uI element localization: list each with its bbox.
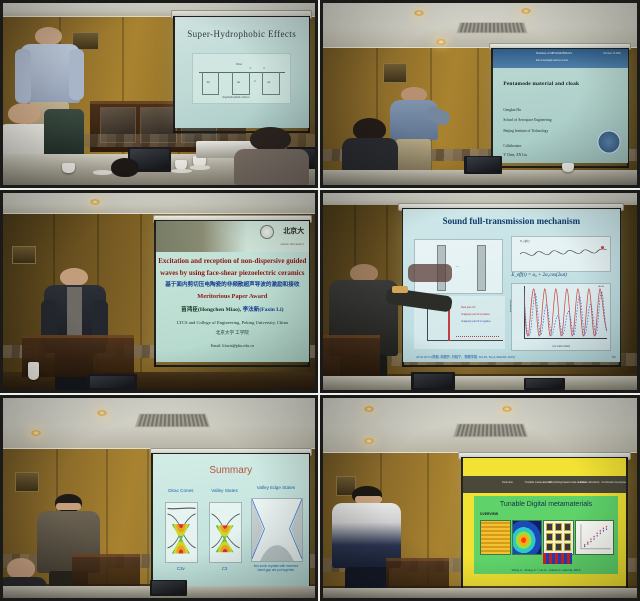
wall-plaque bbox=[15, 472, 39, 492]
nav-item-future: Future directions bbox=[580, 481, 599, 484]
slide-sound-transmission: Sound full-transmission mechanism ··· E_… bbox=[403, 209, 620, 363]
university-name-en: PEKING UNIVERSITY bbox=[280, 243, 304, 246]
column-caption-c3v: C3v bbox=[165, 566, 196, 571]
column-caption-edge: two sonic crystals with inversed band ga… bbox=[251, 564, 301, 573]
slide-author: Gengkai Hu bbox=[503, 108, 520, 112]
slide-affiliation-1: School of Aerospace Engineering bbox=[503, 118, 551, 122]
plot-xlabel: t (in units of Δt/c) bbox=[512, 345, 610, 348]
coffee-cup bbox=[62, 163, 74, 173]
photo-bottom-left: Summary Dirac Cones Valley States Valley… bbox=[3, 398, 315, 598]
hydro-diagram: Water Air Air Air d w h Superhydrophobic… bbox=[192, 53, 291, 104]
label-dim-h: h bbox=[254, 80, 255, 83]
laptop bbox=[464, 156, 502, 174]
slide-header-bar: Workshop on METAMATERIALS Sub-wavelength… bbox=[493, 49, 628, 68]
slide-affiliation-2: Beijing Institute of Technology bbox=[503, 129, 548, 133]
photo-top-right: Workshop on METAMATERIALS Sub-wavelength… bbox=[323, 3, 637, 185]
inset-plot-label: E_eff(t) bbox=[520, 239, 529, 243]
projection-screen: Workshop on METAMATERIALS Sub-wavelength… bbox=[493, 49, 628, 164]
wall-plaque bbox=[383, 63, 407, 83]
peking-seal-icon bbox=[260, 225, 274, 239]
author-1-en: (Hongchen Miao) bbox=[198, 307, 240, 313]
laptop bbox=[524, 378, 565, 390]
attendee-foreground-center bbox=[97, 158, 153, 185]
figure-unit-cells bbox=[543, 520, 574, 555]
nav-item-overview: Overview bbox=[502, 481, 513, 484]
slide-summary: Summary Dirac Cones Valley States Valley… bbox=[153, 454, 309, 590]
projection-screen: 北京大 PEKING UNIVERSITY Excitation and rec… bbox=[156, 221, 309, 363]
water-bottle bbox=[28, 362, 39, 380]
collage-panel-top-left[interactable]: Super-Hydrophobic Effects Water Air Air … bbox=[0, 0, 320, 190]
university-seal-icon bbox=[597, 130, 621, 154]
slide-super-hydrophobic: Super-Hydrophobic Effects Water Air Air … bbox=[175, 17, 309, 128]
inset-plot-eeff: E_eff(t) bbox=[511, 236, 611, 272]
laptop bbox=[411, 372, 455, 390]
ceiling-vent bbox=[456, 22, 528, 33]
ceiling-downlight bbox=[31, 430, 41, 436]
wall-plaque bbox=[12, 246, 36, 264]
photo-bottom-right: Overview Tunable metamaterials 3D printi… bbox=[323, 398, 637, 598]
label-surface: Superhydrophobic surface bbox=[222, 96, 249, 99]
photo-middle-left: 北京大 PEKING UNIVERSITY Excitation and rec… bbox=[3, 193, 315, 390]
label-air-1: Air bbox=[207, 81, 210, 84]
nav-item-conclusion: Conclusion & perspectives bbox=[602, 481, 627, 484]
figure-scatter-plot bbox=[575, 520, 614, 555]
photo-middle-right: Sound full-transmission mechanism ··· E_… bbox=[323, 193, 637, 390]
ceiling-downlight bbox=[364, 438, 374, 444]
projection-screen: Sound full-transmission mechanism ··· E_… bbox=[403, 209, 620, 363]
slide-title: Pentamode material and cloak bbox=[503, 81, 579, 87]
label-dim-w: w bbox=[263, 67, 265, 70]
collage-panel-middle-right[interactable]: Sound full-transmission mechanism ··· E_… bbox=[320, 190, 640, 395]
label-water: Water bbox=[236, 63, 242, 66]
photo-collage: Super-Hydrophobic Effects Water Air Air … bbox=[0, 0, 640, 601]
projection-screen: Summary Dirac Cones Valley States Valley… bbox=[153, 454, 309, 590]
slide-pentamode: Workshop on METAMATERIALS Sub-wavelength… bbox=[493, 49, 628, 164]
slide-affiliation-cn: 北京大学 工学院 bbox=[156, 330, 309, 336]
arm-shadow bbox=[408, 264, 452, 282]
slide-tunable-digital: Overview Tunable metamaterials 3D printi… bbox=[463, 458, 626, 586]
collaborator-label: Collaborator bbox=[503, 144, 521, 148]
collage-panel-bottom-right[interactable]: Overview Tunable metamaterials 3D printi… bbox=[320, 395, 640, 601]
figure-binary-pattern bbox=[543, 553, 572, 563]
header-left: Workshop on METAMATERIALS bbox=[536, 52, 572, 55]
slide-citation: 2016/10/15 (陈毅, 胡更开, 刘晓宁，物理学报, Vol.65, N… bbox=[416, 354, 515, 359]
slide-title: Tunable Digital metamaterials bbox=[474, 501, 618, 508]
collage-panel-top-right[interactable]: Workshop on METAMATERIALS Sub-wavelength… bbox=[320, 0, 640, 190]
slide-affiliation: LTCS and College of Engineering, Peking … bbox=[156, 320, 309, 325]
slide-title-line2: waves by using face-shear piezoelectric … bbox=[156, 269, 309, 277]
laptop bbox=[150, 580, 187, 596]
slide-title: Sound full-transmission mechanism bbox=[403, 216, 620, 226]
column-heading-valley-states: Valley States bbox=[204, 488, 245, 493]
laptop bbox=[87, 374, 137, 390]
plot-ylabel: transmission bbox=[510, 300, 512, 312]
author-2-cn: 李法新 bbox=[243, 307, 260, 313]
slide-credit: Wang Z., Zhang K.*, Hu G., Advance mater… bbox=[474, 568, 618, 572]
collage-panel-middle-left[interactable]: 北京大 PEKING UNIVERSITY Excitation and rec… bbox=[0, 190, 320, 395]
university-name-cn: 北京大 bbox=[283, 226, 304, 236]
column-heading-valley-edge-states: Valley Edge States bbox=[248, 485, 304, 490]
slide-excitation-award: 北京大 PEKING UNIVERSITY Excitation and rec… bbox=[156, 221, 309, 363]
ceiling-downlight bbox=[502, 406, 512, 412]
photo-top-left: Super-Hydrophobic Effects Water Air Air … bbox=[3, 3, 315, 185]
slide-title: Summary bbox=[153, 465, 309, 476]
slide-title-line1: Excitation and reception of non-dispersi… bbox=[156, 257, 309, 265]
nav-item-tunable: Tunable metamaterials bbox=[525, 481, 551, 484]
plot-transmission: tR=50 t (in units of Δt/c) transmission bbox=[511, 283, 611, 351]
figure-lattice-array bbox=[480, 520, 511, 555]
collage-panel-bottom-left[interactable]: Summary Dirac Cones Valley States Valley… bbox=[0, 395, 320, 601]
slide-equation: E_eff(t) = a₀ + 2a₁cos(2ωt) bbox=[511, 273, 566, 278]
authors-line: 苗鸿臣(Hongchen Miao), 李法新(Faxin Li) bbox=[156, 305, 309, 313]
ceiling-vent bbox=[135, 414, 211, 428]
legend-entry-3: Imaginary part of k negative bbox=[461, 320, 491, 323]
collaborators: Y Chen, XN Liu bbox=[503, 153, 527, 157]
label-dim-d: d bbox=[249, 67, 250, 70]
attendee-foreground-right bbox=[234, 127, 309, 185]
column-caption-c3: C3 bbox=[209, 566, 240, 571]
header-left2: Sub-wavelength surface waves bbox=[536, 59, 568, 62]
slide-title: Super-Hydrophobic Effects bbox=[175, 29, 309, 39]
slide-email: Email: lifaxin@pku.edu.cn bbox=[156, 343, 309, 348]
legend-entry-1: Real part of k bbox=[461, 306, 475, 309]
slide-title-cn: 基于面内剪切压电陶瓷的非频散超声导波的激励和接收 bbox=[156, 280, 309, 288]
legend-entry-2: Imaginary part of k positive bbox=[461, 313, 490, 316]
pointer-hand bbox=[392, 286, 408, 294]
band-plot-valley bbox=[209, 502, 242, 564]
ceiling-downlight bbox=[97, 410, 107, 416]
slide-page-number: 50 bbox=[612, 355, 615, 359]
ceiling-vent bbox=[452, 424, 528, 438]
label-air-3: Air bbox=[267, 81, 270, 84]
band-plot-edge bbox=[251, 498, 303, 563]
slide-nav-bar: Overview Tunable metamaterials 3D printi… bbox=[463, 476, 626, 493]
slide-content-card: Tunable Digital metamaterials OVERVIEW bbox=[474, 496, 618, 574]
band-plot-dirac bbox=[165, 502, 198, 564]
ceiling-downlight bbox=[364, 406, 374, 412]
label-air-2: Air bbox=[237, 81, 240, 84]
header-right: October 15 2016 bbox=[603, 52, 620, 55]
projection-screen: Super-Hydrophobic Effects Water Air Air … bbox=[175, 17, 309, 128]
author-2-en: (Faxin Li) bbox=[259, 307, 283, 313]
award-label: Meritorious Paper Award bbox=[156, 293, 309, 300]
author-1-cn: 苗鸿臣 bbox=[181, 307, 198, 313]
figure-field-heatmap bbox=[512, 520, 543, 555]
section-label-overview: OVERVIEW bbox=[480, 512, 498, 516]
column-heading-dirac-cones: Dirac Cones bbox=[161, 488, 202, 493]
projection-screen: Overview Tunable metamaterials 3D printi… bbox=[463, 458, 626, 586]
